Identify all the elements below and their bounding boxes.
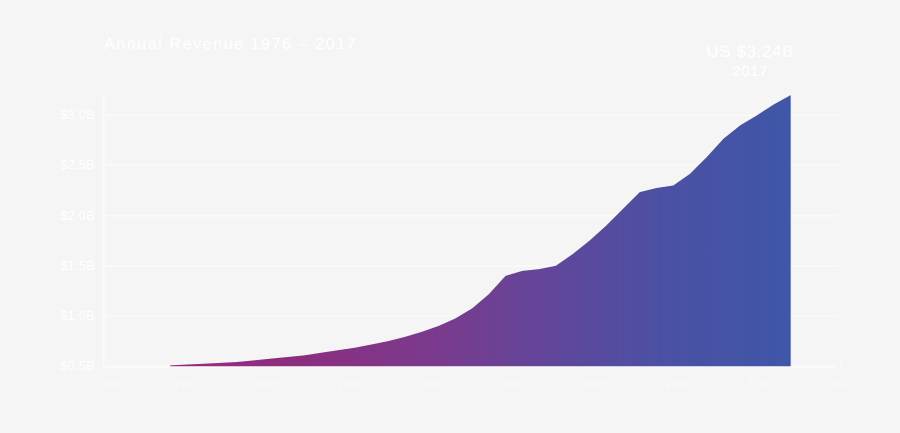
y-axis-label-2-5b: $2.5B xyxy=(60,158,95,172)
x-axis-label-1995: 1995 xyxy=(419,379,442,390)
x-axis-label-2005: 2005 xyxy=(583,379,606,390)
revenue-area-series xyxy=(170,95,791,366)
annotation-value: US $3.24B xyxy=(706,42,794,63)
x-axis-label-1980: 1980 xyxy=(173,379,196,390)
y-axis-label-1-0b: $1.0B xyxy=(60,309,95,323)
x-axis-label-2015: 2015 xyxy=(747,379,770,390)
x-axis-label-2000: 2000 xyxy=(501,379,524,390)
y-axis-label-0-5b: $0.5B xyxy=(60,359,95,373)
y-axis-label-2-0b: $2.0B xyxy=(60,209,95,223)
peak-annotation: US $3.24B 2017 xyxy=(706,42,794,81)
x-axis-label-2020: 2020 xyxy=(829,379,852,390)
x-axis-label-1976: 1976 xyxy=(100,379,123,390)
x-axis-label-2010: 2010 xyxy=(665,379,688,390)
x-axis-label-1985: 1985 xyxy=(255,379,278,390)
revenue-area-chart: Annual Revenue 1976 – 2017 US $3.24B 201… xyxy=(0,0,900,433)
y-axis-label-3-0b: $3.0B xyxy=(60,108,95,122)
chart-title: Annual Revenue 1976 – 2017 xyxy=(104,36,357,54)
y-axis-labels: $3.0B $2.5B $2.0B $1.5B $1.0B $0.5B xyxy=(0,0,95,433)
y-axis-label-1-5b: $1.5B xyxy=(60,259,95,273)
annotation-year: 2017 xyxy=(706,63,794,81)
x-axis-label-1990: 1990 xyxy=(337,379,360,390)
